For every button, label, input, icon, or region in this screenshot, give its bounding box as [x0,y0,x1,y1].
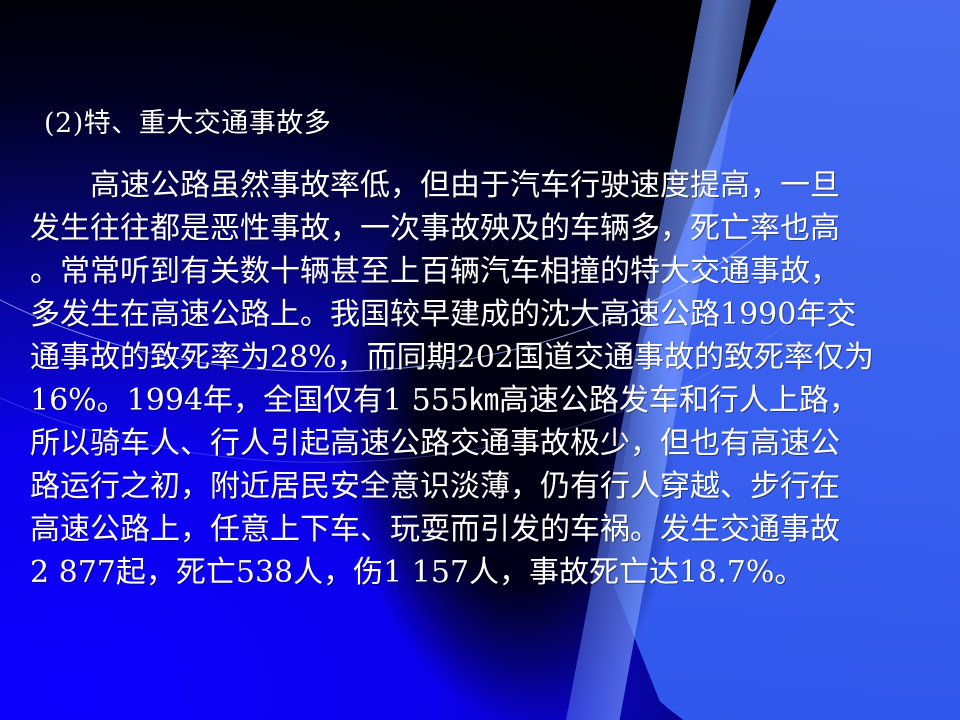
body-line: 高速公路虽然事故率低，但由于汽车行驶速度提高，一旦 [30,164,928,207]
body-line: 发生往往都是恶性事故，一次事故殃及的车辆多，死亡率也高 [30,207,928,250]
slide-title: (2)特、重大交通事故多 [44,110,331,137]
body-line: 16%。1994年，全国仅有1 555㎞高速公路发车和行人上路， [30,379,928,422]
body-line: 通事故的致死率为28%，而同期202国道交通事故的致死率仅为 [30,336,928,379]
body-line: 。常常听到有关数十辆甚至上百辆汽车相撞的特大交通事故， [30,250,928,293]
presentation-slide: (2)特、重大交通事故多 高速公路虽然事故率低，但由于汽车行驶速度提高，一旦 发… [0,0,960,720]
body-line: 多发生在高速公路上。我国较早建成的沈大高速公路1990年交 [30,293,928,336]
slide-body-text: 高速公路虽然事故率低，但由于汽车行驶速度提高，一旦 发生往往都是恶性事故，一次事… [30,164,928,594]
body-line: 所以骑车人、行人引起高速公路交通事故极少，但也有高速公 [30,422,928,465]
body-line: 2 877起，死亡538人，伤1 157人，事故死亡达18.7%。 [30,551,928,594]
slide-content: (2)特、重大交通事故多 高速公路虽然事故率低，但由于汽车行驶速度提高，一旦 发… [0,0,960,720]
body-line: 高速公路上，任意上下车、玩耍而引发的车祸。发生交通事故 [30,508,928,551]
body-line: 路运行之初，附近居民安全意识淡薄，仍有行人穿越、步行在 [30,465,928,508]
